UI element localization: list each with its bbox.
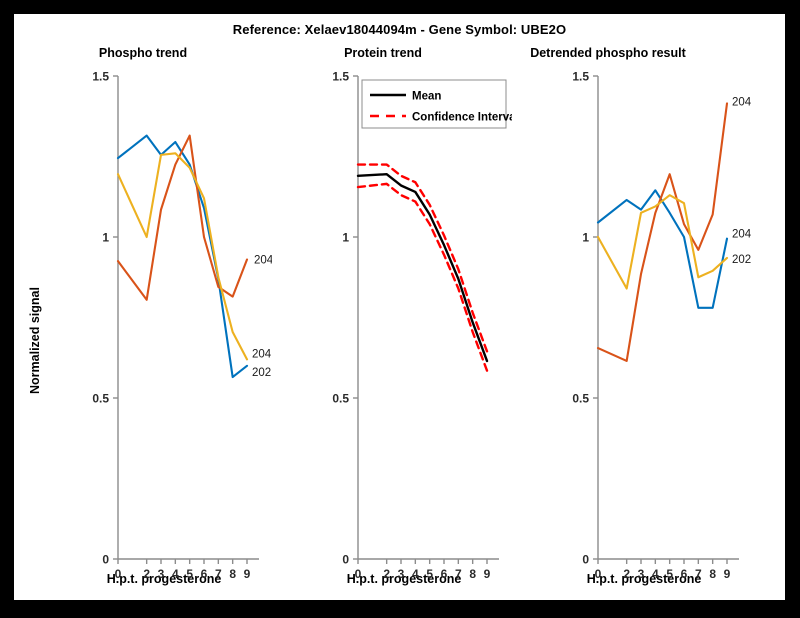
y-axis-tick-label: 1 (582, 231, 589, 245)
y-axis-tick-label: 1.5 (92, 70, 109, 84)
series-line (598, 195, 727, 288)
series-line (358, 165, 487, 352)
y-axis-tick-label: 1 (342, 231, 349, 245)
x-axis-tick-label: 6 (201, 567, 208, 581)
x-axis-tick-label: 2 (143, 567, 150, 581)
x-axis-tick-label: 3 (398, 567, 405, 581)
y-axis-tick-label: 1.5 (572, 70, 589, 84)
x-axis-tick-label: 2 (623, 567, 630, 581)
x-axis-tick-label: 7 (215, 567, 222, 581)
y-axis-tick-label: 0.5 (572, 392, 589, 406)
x-axis-tick-label: 5 (426, 567, 433, 581)
x-axis-tick-label: 4 (412, 567, 419, 581)
x-axis-tick-label: 5 (666, 567, 673, 581)
x-axis-tick-label: 2 (383, 567, 390, 581)
plot-area: 00.511.5023456789MeanConfidence Interval (254, 14, 512, 600)
y-axis-tick-label: 0 (102, 553, 109, 567)
legend: MeanConfidence Interval (362, 80, 512, 128)
x-axis-tick-label: 4 (172, 567, 179, 581)
x-axis-tick-label: 9 (244, 567, 251, 581)
x-axis-tick-label: 5 (186, 567, 193, 581)
x-axis-tick-label: 8 (709, 567, 716, 581)
series-annotation: 204;217 (732, 96, 752, 108)
x-axis-tick-label: 9 (724, 567, 731, 581)
series-line (118, 136, 247, 378)
series-line (598, 103, 727, 361)
y-axis-tick-label: 0 (582, 553, 589, 567)
x-axis-tick-label: 8 (469, 567, 476, 581)
x-axis-tick-label: 8 (229, 567, 236, 581)
series-annotation: 204 (732, 229, 752, 241)
x-axis-tick-label: 0 (355, 567, 362, 581)
x-axis-tick-label: 9 (484, 567, 491, 581)
x-axis-tick-label: 6 (681, 567, 688, 581)
series-line (358, 174, 487, 361)
x-axis-tick-label: 0 (115, 567, 122, 581)
series-annotation: 202;204 (732, 254, 752, 266)
figure-canvas: Reference: Xelaev18044094m - Gene Symbol… (14, 14, 785, 600)
y-axis-tick-label: 1 (102, 231, 109, 245)
x-axis-tick-label: 7 (455, 567, 462, 581)
x-axis-tick-label: 3 (158, 567, 165, 581)
series-line (598, 190, 727, 308)
x-axis-tick-label: 6 (441, 567, 448, 581)
x-axis-tick-label: 4 (652, 567, 659, 581)
series-line (358, 184, 487, 371)
y-axis-tick-label: 0 (342, 553, 349, 567)
plot-area: 00.511.5023456789204;217204202;204 (14, 14, 272, 600)
panel-detrended-phospho-result: Detrended phospho result H.p.t. progeste… (494, 14, 752, 600)
legend-label: Mean (412, 91, 441, 103)
plot-area: 00.511.5023456789204;217204202;204 (494, 14, 752, 600)
y-axis-tick-label: 0.5 (332, 392, 349, 406)
x-axis-tick-label: 3 (638, 567, 645, 581)
series-line (118, 153, 247, 359)
x-axis-tick-label: 0 (595, 567, 602, 581)
x-axis-tick-label: 7 (695, 567, 702, 581)
panel-protein-trend: Protein trend H.p.t. progesterone 00.511… (254, 14, 512, 600)
y-axis-tick-label: 0.5 (92, 392, 109, 406)
panel-phospho-trend: Phospho trend Normalized signal H.p.t. p… (14, 14, 272, 600)
y-axis-tick-label: 1.5 (332, 70, 349, 84)
